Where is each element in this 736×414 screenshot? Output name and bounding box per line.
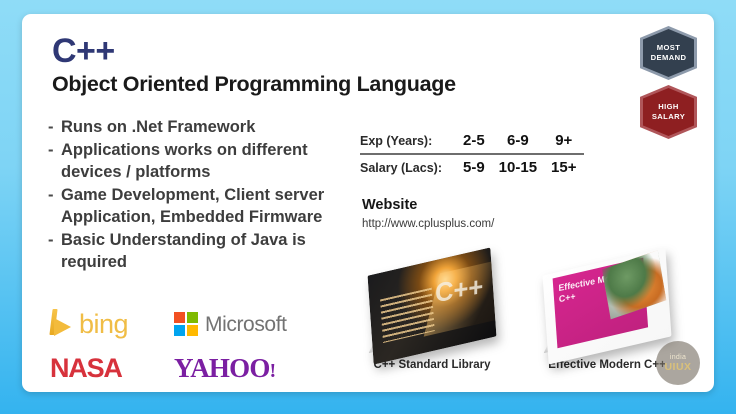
salary-value: 15+ bbox=[544, 154, 583, 178]
list-item: Game Development, Client server Applicat… bbox=[48, 185, 348, 229]
cpp-logo: C++ bbox=[52, 34, 115, 68]
badge-line-1: MOST bbox=[657, 43, 681, 53]
salary-value: 10-15 bbox=[492, 154, 544, 178]
badge-line-2: SALARY bbox=[652, 112, 685, 122]
parrot-illustration bbox=[602, 250, 667, 319]
yahoo-exclamation: ! bbox=[270, 360, 276, 382]
yahoo-logo: YAHOO! bbox=[174, 355, 275, 382]
website-url-link[interactable]: http://www.cplusplus.com/ bbox=[362, 218, 494, 230]
row-label-experience: Exp (Years): bbox=[360, 130, 456, 154]
yahoo-wordmark: YAHOO bbox=[174, 353, 270, 383]
badge-line-2: DEMAND bbox=[651, 53, 687, 63]
book-front-face: C++ bbox=[368, 247, 497, 364]
nasa-logo: NASA bbox=[50, 355, 162, 382]
logo-row-top: bing Microsoft bbox=[50, 302, 320, 346]
list-item: Basic Understanding of Java is required bbox=[48, 230, 348, 274]
table-row: Salary (Lacs): 5-9 10-15 15+ bbox=[360, 154, 584, 178]
microsoft-logo: Microsoft bbox=[174, 312, 287, 336]
badge-most-demand: MOST DEMAND bbox=[640, 26, 697, 80]
logo-row-bottom: NASA YAHOO! bbox=[50, 346, 320, 390]
company-logos: bing Microsoft NASA YAHOO! bbox=[50, 302, 320, 390]
website-heading: Website bbox=[362, 197, 417, 213]
bing-mark-icon bbox=[50, 309, 72, 339]
microsoft-squares-icon bbox=[174, 312, 198, 336]
exp-value: 2-5 bbox=[456, 130, 492, 154]
book-front-face: Effective Modern C++ bbox=[543, 247, 672, 364]
exp-value: 9+ bbox=[544, 130, 583, 154]
watermark-top-text: india bbox=[670, 354, 686, 361]
slide-card: C++ Object Oriented Programming Language… bbox=[22, 14, 714, 392]
badge-line-1: HIGH bbox=[658, 102, 679, 112]
list-item: Runs on .Net Framework bbox=[48, 117, 348, 139]
feature-bullet-list: Runs on .Net Framework Applications work… bbox=[48, 117, 348, 275]
row-label-salary: Salary (Lacs): bbox=[360, 154, 456, 178]
watermark-bottom-text: UIUX bbox=[664, 361, 691, 373]
badge-high-salary: HIGH SALARY bbox=[640, 85, 697, 139]
book-item-standard-library: C++ C++ Standard Library bbox=[352, 262, 512, 371]
experience-salary-table: Exp (Years): 2-5 6-9 9+ Salary (Lacs): 5… bbox=[360, 130, 584, 178]
book-cover-image: Effective Modern C++ bbox=[544, 262, 670, 350]
book-cover-image: C++ bbox=[369, 262, 495, 350]
microsoft-wordmark: Microsoft bbox=[205, 314, 287, 335]
bing-logo: bing bbox=[50, 309, 162, 339]
table-row: Exp (Years): 2-5 6-9 9+ bbox=[360, 130, 584, 154]
bing-wordmark: bing bbox=[79, 311, 128, 338]
page-title: Object Oriented Programming Language bbox=[52, 72, 456, 97]
watermark-logo: india UIUX bbox=[656, 341, 700, 385]
list-item: Applications works on different devices … bbox=[48, 140, 348, 184]
salary-value: 5-9 bbox=[456, 154, 492, 178]
exp-value: 6-9 bbox=[492, 130, 544, 154]
